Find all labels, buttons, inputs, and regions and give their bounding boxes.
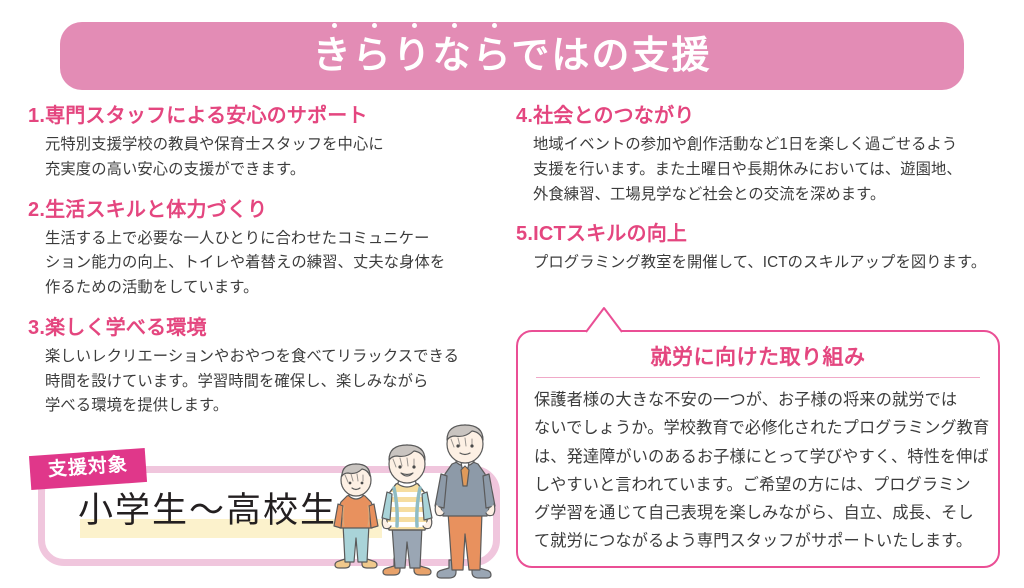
- text-line: て就労につながるよう専門スタッフがサポートいたします。: [534, 527, 982, 555]
- right-column: 4.社会とのつながり 地域イベントの参加や創作活動など1日を楽しく過ごせるよう …: [516, 103, 1006, 276]
- text-line: 時間を設けています。学習時間を確保し、楽しみながら: [45, 370, 498, 395]
- middle-school-student-figure: [382, 445, 432, 575]
- left-column: 1.専門スタッフによる安心のサポート 元特別支援学校の教員や保育士スタッフを中心…: [28, 103, 498, 419]
- callout-divider: [536, 377, 980, 378]
- text-line: プログラミング教室を開催して、ICTのスキルアップを図ります。: [533, 251, 1006, 276]
- employment-callout: 就労に向けた取り組み 保護者様の大きな不安の一つが、お子様の将来の就労では ない…: [516, 330, 1000, 568]
- text-line: ション能力の向上、トイレや着替えの練習、丈夫な身体を: [45, 251, 498, 276]
- text-line: 充実度の高い安心の支援ができます。: [45, 158, 498, 183]
- support-item-2-body: 生活する上で必要な一人ひとりに合わせたコミュニケー ション能力の向上、トイレや着…: [28, 227, 498, 301]
- elementary-student-figure: [334, 464, 378, 568]
- callout-title: 就労に向けた取り組み: [534, 344, 982, 371]
- support-item-4: 4.社会とのつながり 地域イベントの参加や創作活動など1日を楽しく過ごせるよう …: [516, 103, 1006, 207]
- text-line: 学べる環境を提供します。: [45, 394, 498, 419]
- callout-tail-icon: [586, 307, 626, 333]
- support-item-2: 2.生活スキルと体力づくり 生活する上で必要な一人ひとりに合わせたコミュニケー …: [28, 197, 498, 301]
- support-item-4-heading: 4.社会とのつながり: [516, 103, 1006, 130]
- support-item-4-body: 地域イベントの参加や創作活動など1日を楽しく過ごせるよう 支援を行います。また土…: [516, 133, 1006, 207]
- text-line: 生活する上で必要な一人ひとりに合わせたコミュニケー: [45, 227, 498, 252]
- support-item-5: 5.ICTスキルの向上 プログラミング教室を開催して、ICTのスキルアップを図り…: [516, 221, 1006, 276]
- three-students-illustration: [318, 418, 514, 588]
- callout-body: 保護者様の大きな不安の一つが、お子様の将来の就労では ないでしょうか。学校教育で…: [534, 386, 982, 555]
- target-audience-value: 小学生〜高校生: [78, 491, 337, 530]
- text-line: しやすいと言われています。ご希望の方には、プログラミン: [534, 471, 982, 499]
- text-line: 楽しいレクリエーションやおやつを食べてリラックスできる: [45, 345, 498, 370]
- text-line: は、発達障がいのあるお子様にとって学びやすく、特性を伸ば: [534, 443, 982, 471]
- page-title-text: きらりならではの支援: [313, 35, 712, 77]
- text-line: 作るための活動をしています。: [45, 276, 498, 301]
- text-line: 元特別支援学校の教員や保育士スタッフを中心に: [45, 133, 498, 158]
- support-item-2-heading: 2.生活スキルと体力づくり: [28, 197, 498, 224]
- page-header-banner: きらりならではの支援: [60, 22, 964, 90]
- support-item-3-heading: 3.楽しく学べる環境: [28, 315, 498, 342]
- text-line: 支援を行います。また土曜日や長期休みにおいては、遊園地、: [533, 158, 1006, 183]
- text-line: 保護者様の大きな不安の一つが、お子様の将来の就労では: [534, 386, 982, 414]
- page-title: きらりならではの支援: [313, 37, 712, 75]
- support-item-3: 3.楽しく学べる環境 楽しいレクリエーションやおやつを食べてリラックスできる 時…: [28, 315, 498, 419]
- support-item-1: 1.専門スタッフによる安心のサポート 元特別支援学校の教員や保育士スタッフを中心…: [28, 103, 498, 183]
- support-item-5-heading: 5.ICTスキルの向上: [516, 221, 1006, 248]
- support-item-1-body: 元特別支援学校の教員や保育士スタッフを中心に 充実度の高い安心の支援ができます。: [28, 133, 498, 183]
- text-line: ないでしょうか。学校教育で必修化されたプログラミング教育: [534, 414, 982, 442]
- text-line: 地域イベントの参加や創作活動など1日を楽しく過ごせるよう: [533, 133, 1006, 158]
- high-school-student-figure: [435, 425, 495, 578]
- support-item-5-body: プログラミング教室を開催して、ICTのスキルアップを図ります。: [516, 251, 1006, 276]
- support-item-1-heading: 1.専門スタッフによる安心のサポート: [28, 103, 498, 130]
- support-item-3-body: 楽しいレクリエーションやおやつを食べてリラックスできる 時間を設けています。学習…: [28, 345, 498, 419]
- emphasis-dots: [315, 23, 515, 28]
- text-line: 外食練習、工場見学など社会との交流を深めます。: [533, 183, 1006, 208]
- text-line: グ学習を通じて自己表現を楽しみながら、自立、成長、そし: [534, 499, 982, 527]
